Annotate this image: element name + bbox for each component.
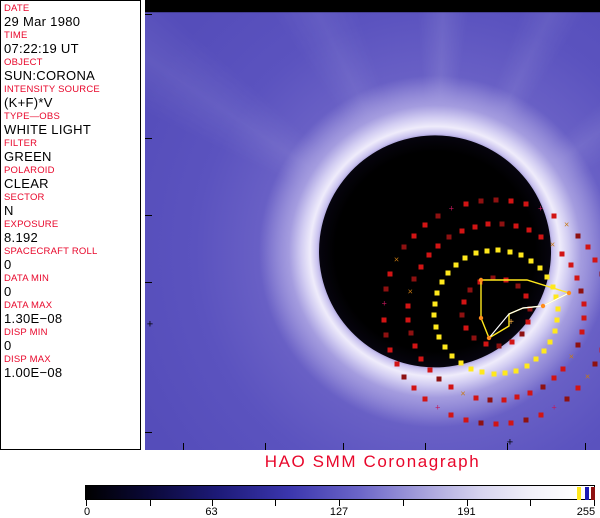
colorbar-gradient xyxy=(85,485,595,500)
metadata-value: WHITE LIGHT xyxy=(4,122,140,137)
metadata-value: 1.00E−08 xyxy=(4,365,140,380)
axis-tick-bottom xyxy=(425,443,426,450)
metadata-row: SECTORN xyxy=(4,192,140,218)
metadata-row: TIME07:22:19 UT xyxy=(4,30,140,56)
metadata-row: EXPOSURE8.192 xyxy=(4,219,140,245)
metadata-row: DISP MAX1.00E−08 xyxy=(4,354,140,380)
metadata-key: INTENSITY SOURCE xyxy=(4,84,140,95)
axis-tick-left xyxy=(145,138,152,139)
metadata-row: SPACECRAFT ROLL0 xyxy=(4,246,140,272)
metadata-row: POLAROIDCLEAR xyxy=(4,165,140,191)
colorbar-tick xyxy=(530,500,531,506)
colorbar-end-band xyxy=(591,487,595,500)
metadata-value: 8.192 xyxy=(4,230,140,245)
metadata-row: DATA MIN0 xyxy=(4,273,140,299)
axis-tick-left xyxy=(145,215,152,216)
colorbar-tick xyxy=(275,500,276,506)
metadata-value: GREEN xyxy=(4,149,140,164)
axis-tick-bottom xyxy=(265,443,266,450)
metadata-key: TIME xyxy=(4,30,140,41)
axis-reference-cross: + xyxy=(147,320,153,331)
metadata-value: 0 xyxy=(4,257,140,272)
metadata-key: SECTOR xyxy=(4,192,140,203)
metadata-value: N xyxy=(4,203,140,218)
colorbar-tick-label: 191 xyxy=(457,506,475,518)
axis-tick-left xyxy=(145,14,152,15)
metadata-panel: DATE29 Mar 1980TIME07:22:19 UTOBJECTSUN:… xyxy=(0,0,141,450)
metadata-key: FILTER xyxy=(4,138,140,149)
colorbar-axis: 063127191255 xyxy=(85,500,595,512)
page-title: HAO SMM Coronagraph xyxy=(145,452,600,472)
colorbar-tick-label: 127 xyxy=(330,506,348,518)
metadata-value: 1.30E−08 xyxy=(4,311,140,326)
axis-tick-left xyxy=(145,282,152,283)
coronagraph-image[interactable]: +××+++×+×××× + ++ xyxy=(145,0,600,450)
metadata-key: TYPE—OBS xyxy=(4,111,140,122)
metadata-row: DATA MAX1.30E−08 xyxy=(4,300,140,326)
metadata-row: TYPE—OBSWHITE LIGHT xyxy=(4,111,140,137)
metadata-value: 07:22:19 UT xyxy=(4,41,140,56)
colorbar-tick-label: 255 xyxy=(577,506,595,518)
axis-reference-cross: + xyxy=(507,438,513,449)
metadata-key: OBJECT xyxy=(4,57,140,68)
metadata-key: EXPOSURE xyxy=(4,219,140,230)
metadata-value: 0 xyxy=(4,338,140,353)
metadata-key: SPACECRAFT ROLL xyxy=(4,246,140,257)
axis-tick-bottom xyxy=(343,443,344,450)
metadata-key: DISP MAX xyxy=(4,354,140,365)
axis-tick-bottom xyxy=(585,443,586,450)
colorbar-tick-label: 63 xyxy=(205,506,217,518)
metadata-key: DATE xyxy=(4,3,140,14)
metadata-key: DATA MIN xyxy=(4,273,140,284)
metadata-value: 29 Mar 1980 xyxy=(4,14,140,29)
metadata-row: INTENSITY SOURCE(K+F)*V xyxy=(4,84,140,110)
metadata-row: FILTERGREEN xyxy=(4,138,140,164)
colorbar-end-band xyxy=(585,487,589,500)
metadata-key: DISP MIN xyxy=(4,327,140,338)
rotation-wedge-top xyxy=(145,0,600,12)
metadata-value: SUN:CORONA xyxy=(4,68,140,83)
colorbar-tick-label: 0 xyxy=(84,506,90,518)
metadata-row: DATE29 Mar 1980 xyxy=(4,3,140,29)
metadata-key: POLAROID xyxy=(4,165,140,176)
metadata-row: DISP MIN0 xyxy=(4,327,140,353)
metadata-value: (K+F)*V xyxy=(4,95,140,110)
colorbar-end-band xyxy=(577,487,581,500)
metadata-key: DATA MAX xyxy=(4,300,140,311)
colorbar-tick xyxy=(403,500,404,506)
metadata-row: OBJECTSUN:CORONA xyxy=(4,57,140,83)
axis-tick-bottom xyxy=(183,443,184,450)
colorbar-tick xyxy=(150,500,151,506)
metadata-value: 0 xyxy=(4,284,140,299)
metadata-value: CLEAR xyxy=(4,176,140,191)
axis-tick-left xyxy=(145,432,152,433)
corona-plate xyxy=(145,0,600,450)
colorbar[interactable]: 063127191255 xyxy=(85,485,595,512)
